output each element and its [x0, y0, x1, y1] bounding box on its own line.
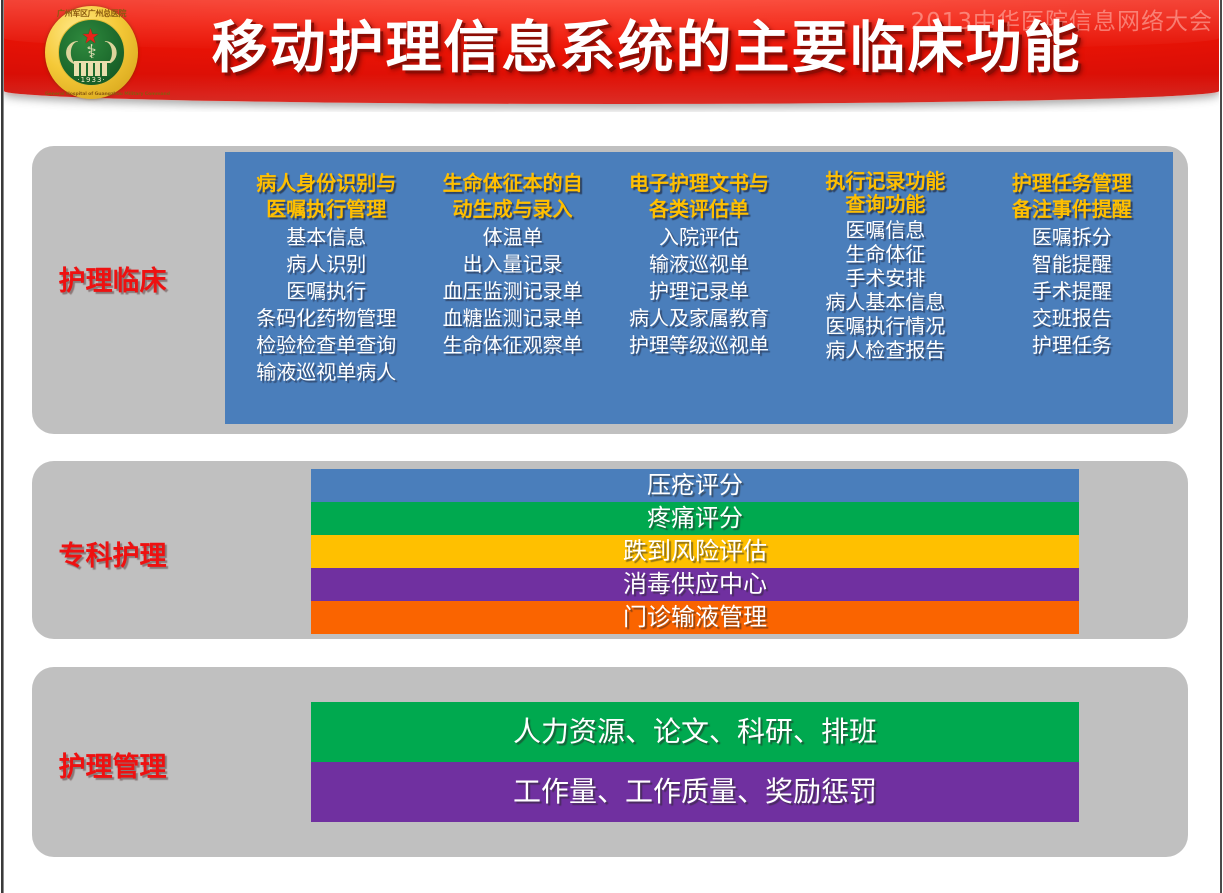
section-label-management: 护理管理	[0, 745, 225, 784]
logo-inner-disc: ⚕ ❨ ❨ ·1933·	[58, 19, 125, 86]
caduceus-icon: ⚕	[86, 43, 96, 62]
list-item: 护理记录单	[608, 278, 790, 305]
specialty-bar-list: 压疮评分 疼痛评分 跌到风险评估 消毒供应中心 门诊输液管理	[311, 469, 1079, 634]
header-banner: 2013中华医院信息网络大会 移动护理信息系统的主要临床功能 广州军区广州总医院…	[4, 0, 1219, 112]
column-item-list: 医嘱信息 生命体征 手术安排 病人基本信息 医嘱执行情况 病人检查报告	[794, 218, 976, 362]
column-title: 病人身份识别与 医嘱执行管理	[235, 170, 417, 222]
column-title: 护理任务管理 备注事件提醒	[981, 170, 1163, 222]
hospital-logo-icon: 广州军区广州总医院 General Hospital of Guangzhou …	[45, 6, 138, 99]
bar-item: 工作量、工作质量、奖励惩罚	[311, 762, 1079, 822]
list-item: 生命体征	[794, 242, 976, 266]
column-title-line1: 生命体征本的自	[421, 170, 603, 196]
list-item: 手术安排	[794, 266, 976, 290]
bar-item: 消毒供应中心	[311, 568, 1079, 601]
list-item: 出入量记录	[421, 251, 603, 278]
page-title: 移动护理信息系统的主要临床功能	[174, 10, 1119, 88]
list-item: 血糖监测记录单	[421, 305, 603, 332]
column-title-line2: 备注事件提醒	[981, 196, 1163, 222]
column-title-line2: 各类评估单	[608, 196, 790, 222]
column-title-line2: 查询功能	[794, 193, 976, 216]
bar-item: 压疮评分	[311, 469, 1079, 502]
column-item-list: 入院评估 输液巡视单 护理记录单 病人及家属教育 护理等级巡视单	[608, 224, 790, 359]
feature-column-task-management: 护理任务管理 备注事件提醒 医嘱拆分 智能提醒 手术提醒 交班报告 护理任务	[979, 170, 1165, 359]
logo-ring-text-english: General Hospital of Guangzhou Military C…	[45, 92, 138, 97]
list-item: 手术提醒	[981, 278, 1163, 305]
hospital-building-icon	[74, 61, 110, 76]
logo-founding-year: ·1933·	[77, 76, 105, 84]
list-item: 血压监测记录单	[421, 278, 603, 305]
list-item: 护理任务	[981, 332, 1163, 359]
column-item-list: 基本信息 病人识别 医嘱执行 条码化药物管理 检验检查单查询 输液巡视单病人	[235, 224, 417, 386]
list-item: 检验检查单查询	[235, 332, 417, 359]
list-item: 基本信息	[235, 224, 417, 251]
slide-right-border	[1218, 0, 1223, 893]
list-item: 条码化药物管理	[235, 305, 417, 332]
bar-item: 人力资源、论文、科研、排班	[311, 702, 1079, 762]
column-title-line2: 医嘱执行管理	[235, 196, 417, 222]
list-item: 输液巡视单病人	[235, 359, 417, 386]
section-label-specialty: 专科护理	[0, 534, 225, 573]
list-item: 病人识别	[235, 251, 417, 278]
management-bar-list: 人力资源、论文、科研、排班 工作量、工作质量、奖励惩罚	[311, 702, 1079, 822]
list-item: 入院评估	[608, 224, 790, 251]
list-item: 输液巡视单	[608, 251, 790, 278]
section-label-clinical: 护理临床	[0, 259, 225, 298]
list-item: 医嘱信息	[794, 218, 976, 242]
bar-item: 跌到风险评估	[311, 535, 1079, 568]
list-item: 护理等级巡视单	[608, 332, 790, 359]
list-item: 医嘱拆分	[981, 224, 1163, 251]
slide-canvas: 2013中华医院信息网络大会 移动护理信息系统的主要临床功能 广州军区广州总医院…	[0, 0, 1223, 893]
list-item: 智能提醒	[981, 251, 1163, 278]
clinical-feature-board: 病人身份识别与 医嘱执行管理 基本信息 病人识别 医嘱执行 条码化药物管理 检验…	[225, 152, 1173, 424]
list-item: 生命体征观察单	[421, 332, 603, 359]
column-title-line2: 动生成与录入	[421, 196, 603, 222]
feature-column-execution-records: 执行记录功能 查询功能 医嘱信息 生命体征 手术安排 病人基本信息 医嘱执行情况…	[792, 170, 978, 362]
list-item: 病人及家属教育	[608, 305, 790, 332]
column-title-line1: 病人身份识别与	[235, 170, 417, 196]
list-item: 医嘱执行	[235, 278, 417, 305]
logo-ring-text-chinese: 广州军区广州总医院	[45, 8, 138, 19]
column-title-line1: 执行记录功能	[794, 170, 976, 193]
list-item: 病人检查报告	[794, 338, 976, 362]
column-title: 执行记录功能 查询功能	[794, 170, 976, 216]
feature-column-vital-signs: 生命体征本的自 动生成与录入 体温单 出入量记录 血压监测记录单 血糖监测记录单…	[419, 170, 605, 359]
bar-item: 疼痛评分	[311, 502, 1079, 535]
feature-column-nursing-documents: 电子护理文书与 各类评估单 入院评估 输液巡视单 护理记录单 病人及家属教育 护…	[606, 170, 792, 359]
bar-item: 门诊输液管理	[311, 601, 1079, 634]
column-item-list: 医嘱拆分 智能提醒 手术提醒 交班报告 护理任务	[981, 224, 1163, 359]
list-item: 医嘱执行情况	[794, 314, 976, 338]
list-item: 交班报告	[981, 305, 1163, 332]
column-item-list: 体温单 出入量记录 血压监测记录单 血糖监测记录单 生命体征观察单	[421, 224, 603, 359]
column-title-line1: 电子护理文书与	[608, 170, 790, 196]
column-title: 生命体征本的自 动生成与录入	[421, 170, 603, 222]
list-item: 体温单	[421, 224, 603, 251]
column-title-line1: 护理任务管理	[981, 170, 1163, 196]
column-title: 电子护理文书与 各类评估单	[608, 170, 790, 222]
feature-column-patient-identification: 病人身份识别与 医嘱执行管理 基本信息 病人识别 医嘱执行 条码化药物管理 检验…	[233, 170, 419, 386]
list-item: 病人基本信息	[794, 290, 976, 314]
